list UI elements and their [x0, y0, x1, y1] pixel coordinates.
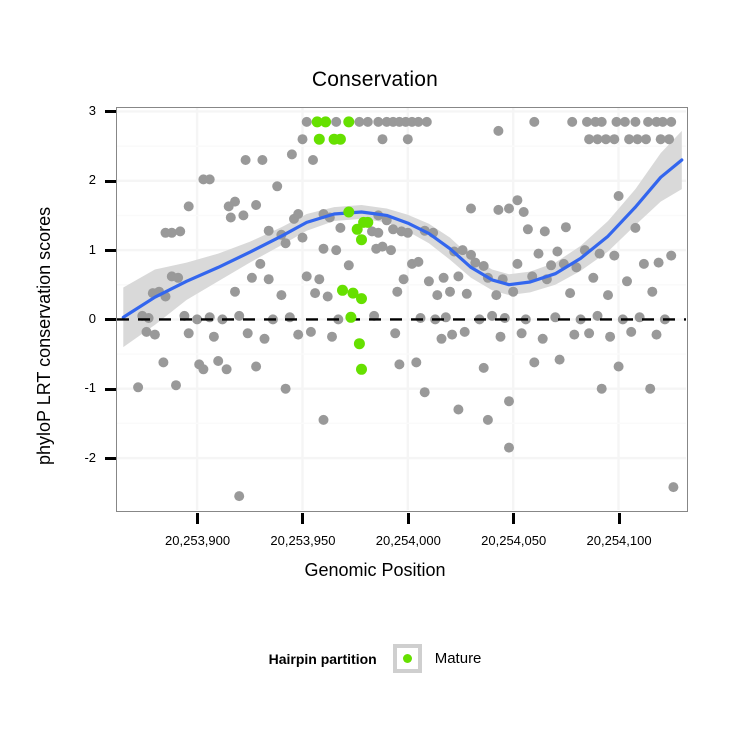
- y-tick-mark: [105, 388, 116, 391]
- chart-root: Conservation 3210-1-2 20,253,90020,253,9…: [0, 0, 750, 750]
- x-tick-mark: [618, 513, 621, 524]
- y-tick-mark: [105, 180, 116, 183]
- y-tick-label: 2: [68, 172, 96, 187]
- x-tick-mark: [301, 513, 304, 524]
- y-tick-label: -1: [68, 380, 96, 395]
- x-axis-title: Genomic Position: [0, 560, 750, 581]
- x-tick-mark: [407, 513, 410, 524]
- x-tick-label: 20,253,950: [248, 533, 358, 548]
- x-tick-label: 20,254,100: [564, 533, 674, 548]
- y-axis-title: phyloP LRT conservation scores: [34, 207, 55, 465]
- chart-title: Conservation: [0, 68, 750, 92]
- y-tick-label: 1: [68, 242, 96, 257]
- plot-panel: [116, 107, 688, 512]
- plot-canvas: [117, 108, 686, 510]
- x-tick-mark: [512, 513, 515, 524]
- y-tick-mark: [105, 457, 116, 460]
- x-tick-label: 20,254,000: [353, 533, 463, 548]
- x-tick-mark: [196, 513, 199, 524]
- x-tick-label: 20,254,050: [459, 533, 569, 548]
- y-tick-label: 0: [68, 311, 96, 326]
- y-tick-mark: [105, 110, 116, 113]
- legend-label-mature: Mature: [435, 650, 482, 667]
- legend-title: Hairpin partition: [269, 651, 377, 667]
- y-tick-mark: [105, 249, 116, 252]
- legend-dot-icon: [403, 654, 412, 663]
- y-tick-mark: [105, 318, 116, 321]
- y-tick-label: 3: [68, 103, 96, 118]
- y-tick-label: -2: [68, 450, 96, 465]
- legend: Hairpin partition Mature: [0, 644, 750, 673]
- x-tick-label: 20,253,900: [143, 533, 253, 548]
- legend-key-mature[interactable]: [393, 644, 422, 673]
